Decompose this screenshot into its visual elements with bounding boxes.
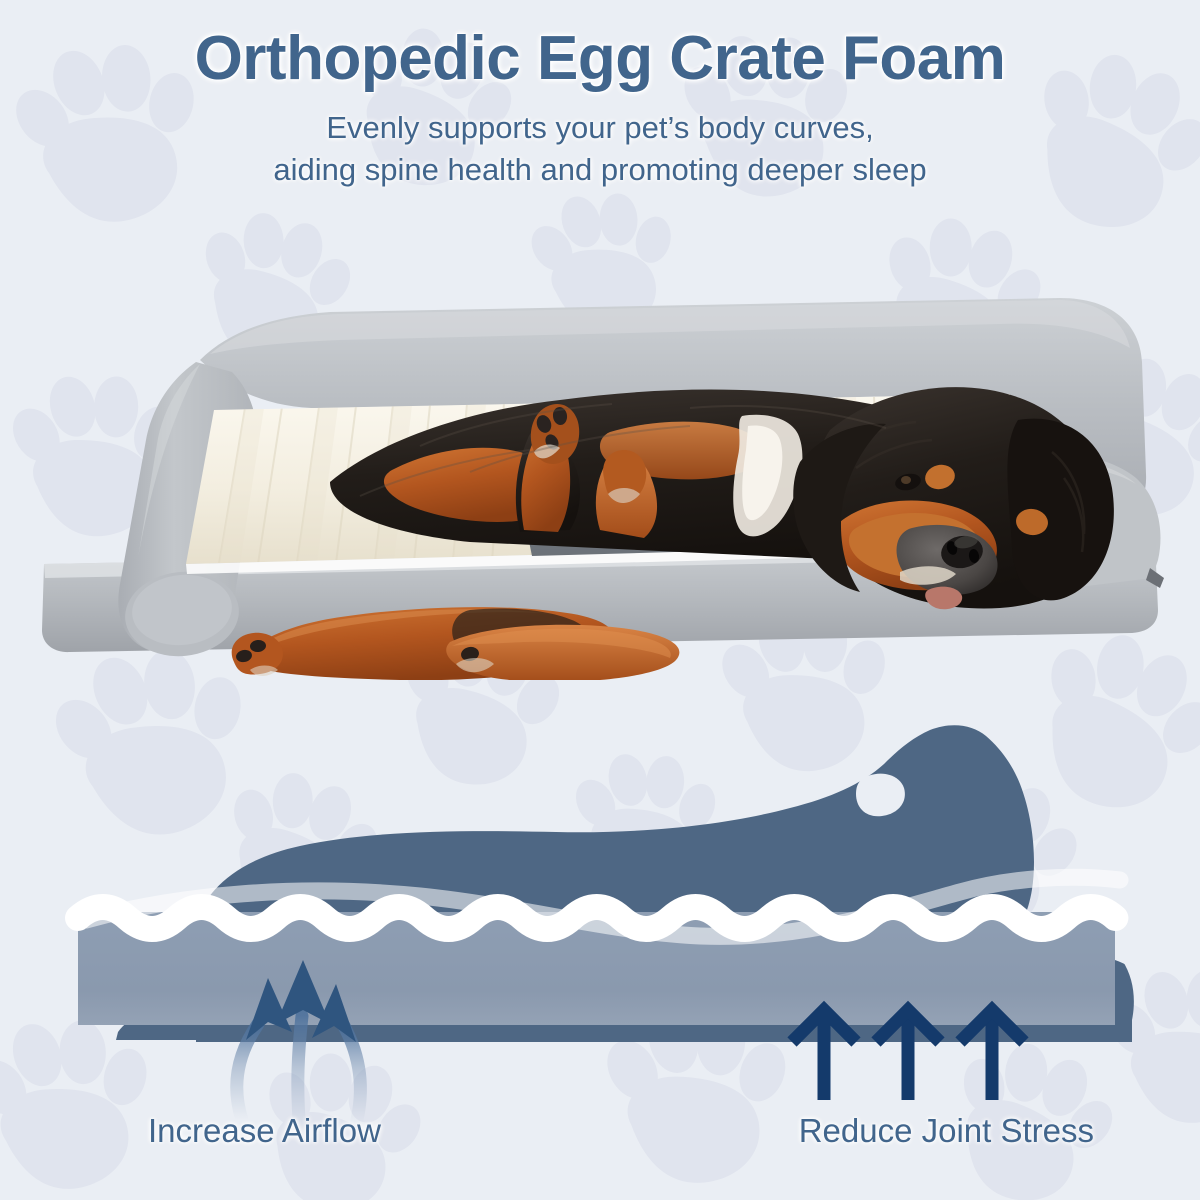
up-arrow-icon-1 xyxy=(792,1010,856,1100)
up-arrow-icon-2 xyxy=(876,1010,940,1100)
page-subtitle: Evenly supports your pet’s body curves, … xyxy=(0,107,1200,191)
joint-stress-arrows-group xyxy=(792,1010,1024,1100)
up-arrow-icon-3 xyxy=(960,1010,1024,1100)
airflow-tail-2 xyxy=(298,1016,302,1132)
page-title: Orthopedic Egg Crate Foam xyxy=(0,0,1200,93)
subtitle-line-1: Evenly supports your pet’s body curves, xyxy=(0,107,1200,149)
header: Orthopedic Egg Crate Foam Evenly support… xyxy=(0,0,1200,191)
product-photo xyxy=(0,212,1200,680)
subtitle-line-2: aiding spine health and promoting deeper… xyxy=(0,149,1200,191)
foam-cross-section-diagram xyxy=(0,680,1200,1200)
